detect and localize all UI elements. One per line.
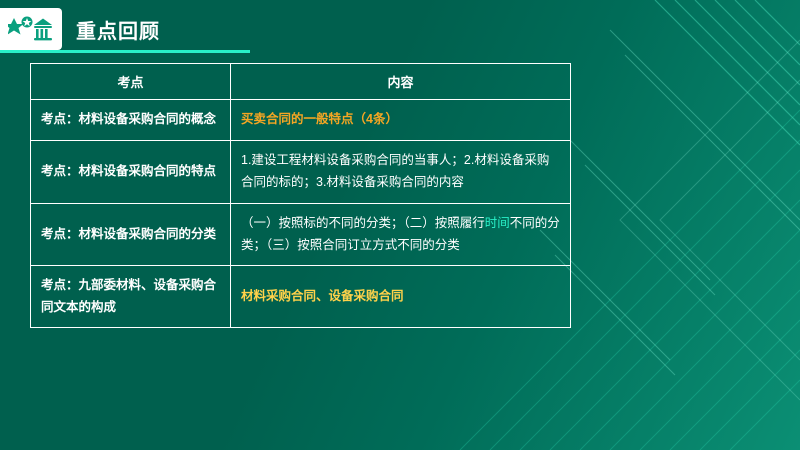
table-cell-key: 考点：九部委材料、设备采购合同文本的构成 [31,266,231,328]
table-header-point: 考点 [31,64,231,100]
table-cell-value: 材料采购合同、设备采购合同 [231,266,571,328]
table-cell-key: 考点：材料设备采购合同的概念 [31,100,231,141]
table-row: 考点：材料设备采购合同的概念 买卖合同的一般特点（4条） [31,100,571,141]
table-cell-value: 1.建设工程材料设备采购合同的当事人；2.材料设备采购合同的标的；3.材料设备采… [231,140,571,203]
value-text-part-1: （一）按照标的不同的分类；（二）按照履行 [241,216,485,230]
review-table: 考点 内容 考点：材料设备采购合同的概念 买卖合同的一般特点（4条） 考点：材料… [30,63,571,328]
slide-root: 重点回顾 考点 内容 考点：材料设备采购合同的概念 买卖合同的一般特点（4条） [0,0,800,450]
table-row: 考点：材料设备采购合同的分类 （一）按照标的不同的分类；（二）按照履行时间不同的… [31,203,571,266]
value-text: 买卖合同的一般特点（4条） [241,112,398,126]
table-cell-value: 买卖合同的一般特点（4条） [231,100,571,141]
value-text: 1.建设工程材料设备采购合同的当事人；2.材料设备采购合同的标的；3.材料设备采… [241,153,549,189]
table-cell-key: 考点：材料设备采购合同的分类 [31,203,231,266]
table-row: 考点：材料设备采购合同的特点 1.建设工程材料设备采购合同的当事人；2.材料设备… [31,140,571,203]
page-title: 重点回顾 [76,15,160,44]
table-cell-value: （一）按照标的不同的分类；（二）按照履行时间不同的分类；（三）按照合同订立方式不… [231,203,571,266]
table-header-content: 内容 [231,64,571,100]
title-badge [0,8,62,50]
value-text-highlight: 时间 [485,216,510,230]
table-header-row: 考点 内容 [31,64,571,100]
value-text: 材料采购合同、设备采购合同 [241,289,404,303]
slide-title-bar: 重点回顾 [0,8,160,50]
table-cell-key: 考点：材料设备采购合同的特点 [31,140,231,203]
school-building-icon [8,13,54,45]
title-underline [0,50,250,53]
review-table-wrapper: 考点 内容 考点：材料设备采购合同的概念 买卖合同的一般特点（4条） 考点：材料… [30,63,570,328]
table-row: 考点：九部委材料、设备采购合同文本的构成 材料采购合同、设备采购合同 [31,266,571,328]
